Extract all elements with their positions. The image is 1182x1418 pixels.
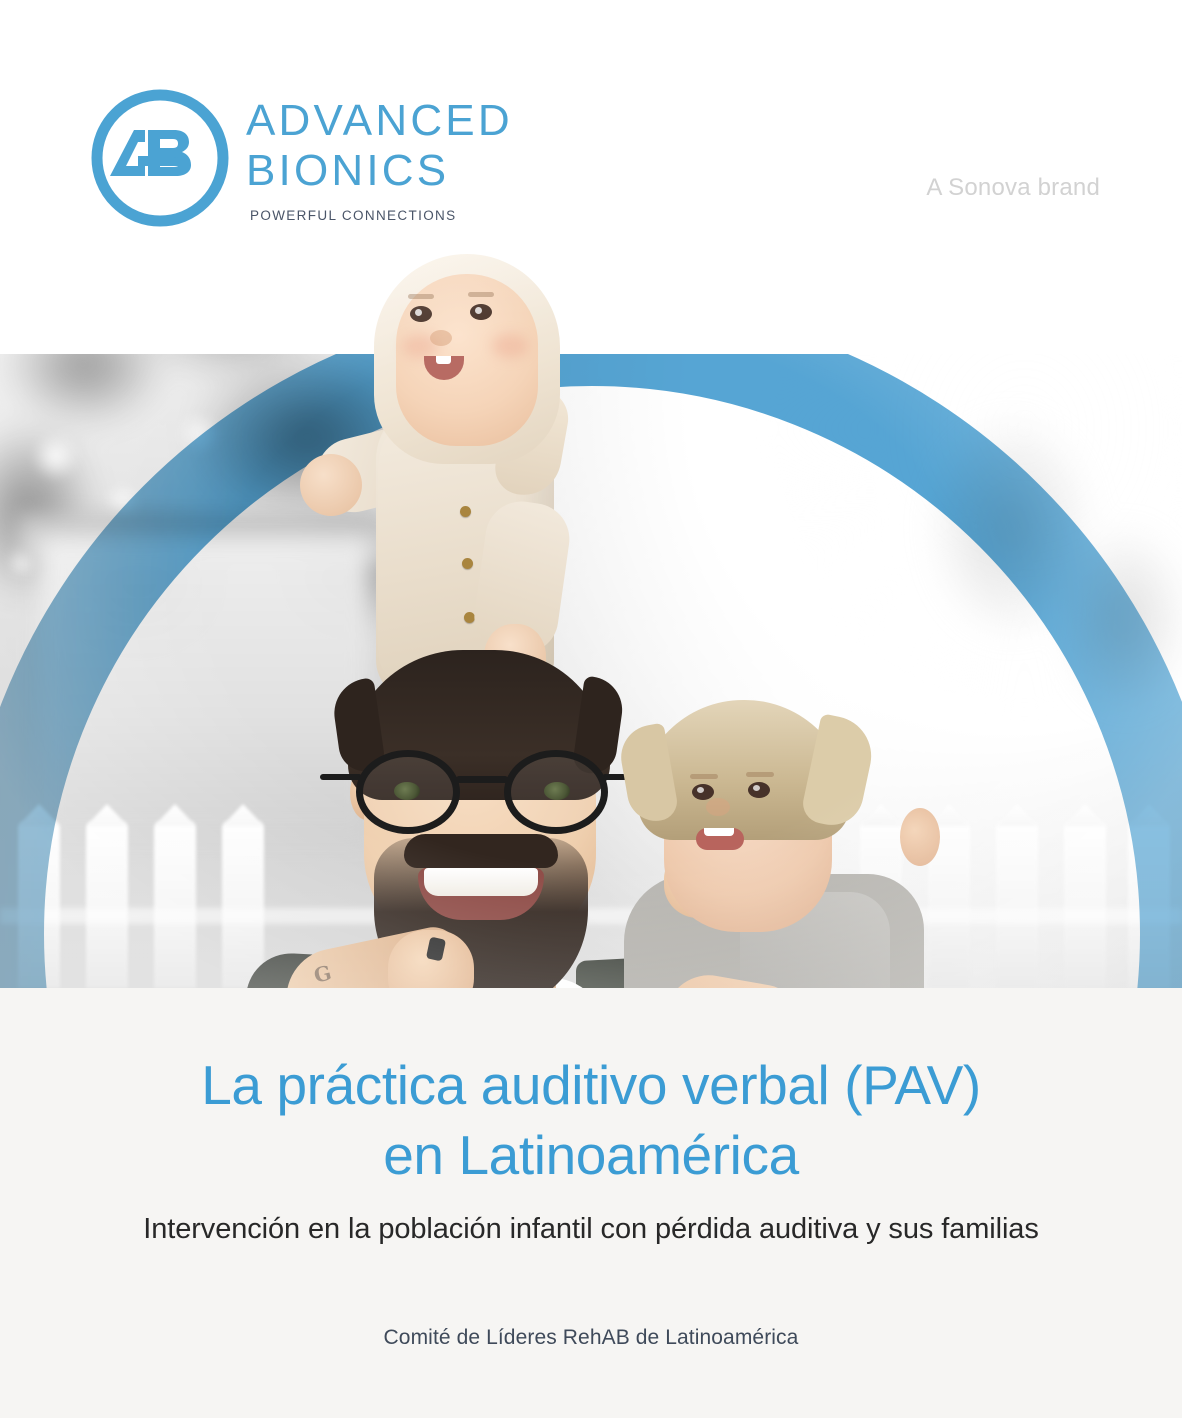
brand-logo[interactable]: ADVANCED BIONICS POWERFUL CONNECTIONS bbox=[88, 86, 513, 230]
page-title-line2: en Latinoamérica bbox=[0, 1120, 1182, 1190]
page-subtitle: Intervención en la población infantil co… bbox=[0, 1210, 1182, 1248]
brand-name-line2: BIONICS bbox=[246, 146, 513, 196]
parent-brand-label: A Sonova brand bbox=[926, 174, 1100, 202]
page-title-line1: La práctica auditivo verbal (PAV) bbox=[0, 1050, 1182, 1120]
hero-photo-canvas: G ✦ e bbox=[0, 238, 1182, 988]
page-credit: Comité de Líderes RehAB de Latinoamérica bbox=[0, 1326, 1182, 1350]
brand-name-line1: ADVANCED bbox=[246, 96, 513, 146]
hero-image: G ✦ e bbox=[0, 238, 1182, 988]
brand-tagline: POWERFUL CONNECTIONS bbox=[250, 208, 513, 223]
people-group: G ✦ e bbox=[0, 238, 1182, 988]
cover-text-block: La práctica auditivo verbal (PAV) en Lat… bbox=[0, 988, 1182, 1418]
page-header: ADVANCED BIONICS POWERFUL CONNECTIONS A … bbox=[0, 0, 1182, 240]
brand-wordmark: ADVANCED BIONICS POWERFUL CONNECTIONS bbox=[246, 86, 513, 223]
ab-circle-logo-icon bbox=[88, 86, 232, 230]
page-title: La práctica auditivo verbal (PAV) en Lat… bbox=[0, 1050, 1182, 1190]
boy-figure: e bbox=[620, 678, 950, 988]
